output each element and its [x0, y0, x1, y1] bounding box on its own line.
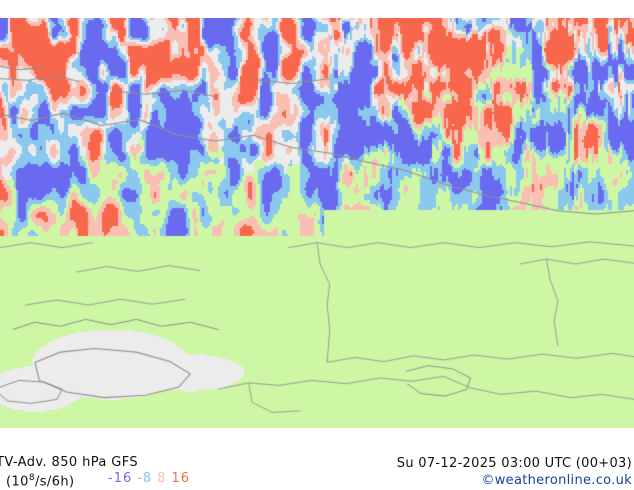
forecast-map[interactable]	[0, 18, 634, 428]
legend-tick-minus16: -16	[108, 471, 132, 486]
product-title: TV-Adv. 850 hPa GFS	[0, 455, 138, 470]
valid-time: Su 07-12-2025 03:00 UTC (00+03)	[397, 455, 632, 472]
timestamp-block: Su 07-12-2025 03:00 UTC (00+03) ©weather…	[397, 455, 632, 489]
legend-tick-plus16: 16	[171, 471, 190, 486]
units-suffix: /s/6h)	[35, 474, 75, 489]
product-units: (108/s/6h)	[6, 471, 74, 489]
weather-map-page: TV-Adv. 850 hPa GFS (108/s/6h) -16-8816 …	[0, 0, 634, 490]
map-footer: TV-Adv. 850 hPa GFS (108/s/6h) -16-8816 …	[0, 428, 634, 490]
legend-tick-minus8: -8	[137, 471, 152, 486]
units-prefix: (10	[6, 474, 29, 489]
map-canvas[interactable]	[0, 18, 634, 428]
copyright-link[interactable]: ©weatheronline.co.uk	[397, 472, 632, 489]
legend-tick-plus8: 8	[157, 471, 166, 486]
color-scale: -16-8816	[108, 471, 195, 486]
